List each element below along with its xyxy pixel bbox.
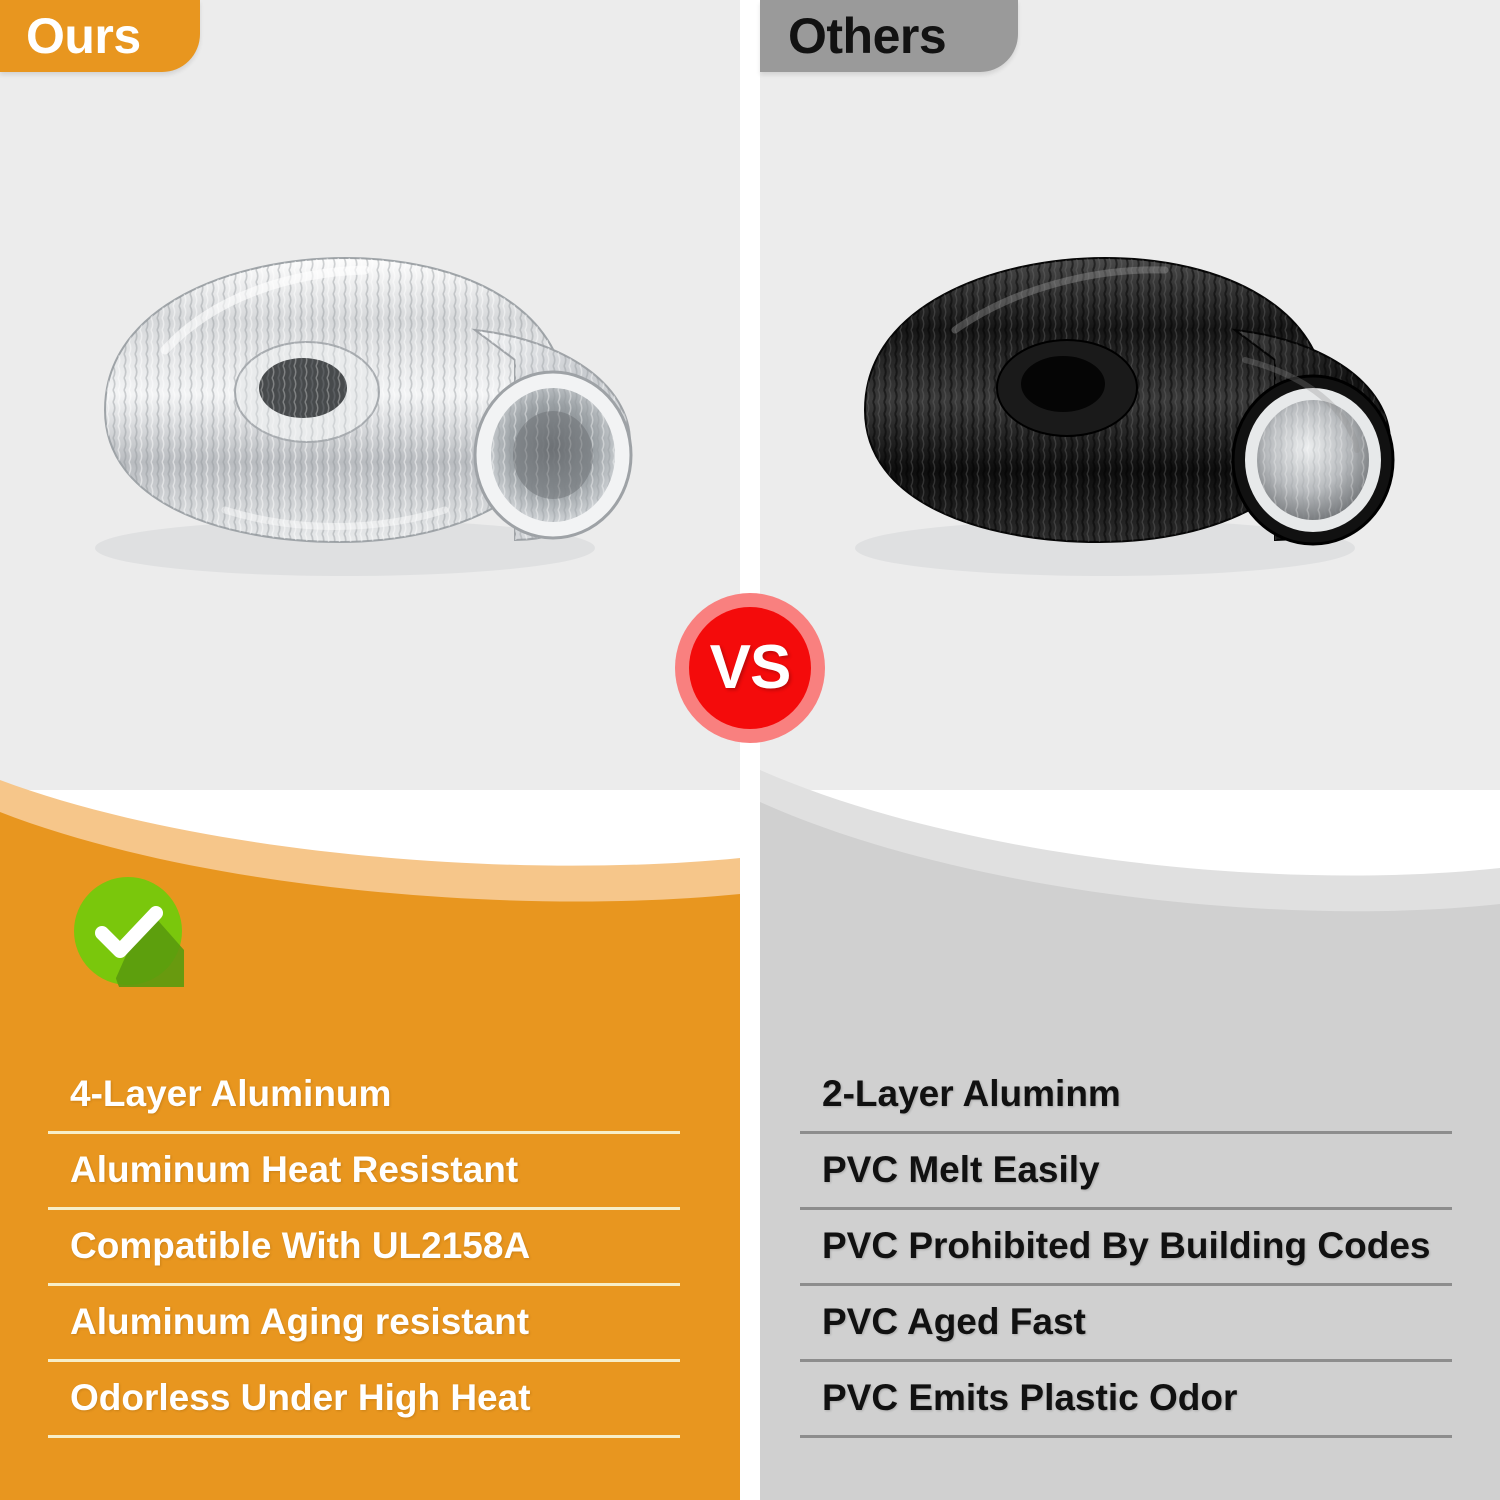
feature-row: PVC Aged Fast	[800, 1286, 1452, 1362]
feature-row: PVC Prohibited By Building Codes	[800, 1210, 1452, 1286]
feature-label: 4-Layer Aluminum	[48, 1075, 391, 1114]
ours-header-label: Ours	[26, 11, 141, 61]
feature-row: PVC Melt Easily	[800, 1134, 1452, 1210]
feature-row: 4-Layer Aluminum	[48, 1058, 680, 1134]
feature-label: PVC Melt Easily	[800, 1151, 1100, 1190]
feature-label: PVC Aged Fast	[800, 1303, 1086, 1342]
ours-header-ribbon: Ours	[0, 0, 200, 72]
feature-row: Aluminum Aging resistant	[48, 1286, 680, 1362]
pvc-flexible-duct-icon	[805, 210, 1455, 590]
ours-product-photo	[0, 0, 740, 790]
comparison-infographic: 4-Layer Aluminum Aluminum Heat Resistant…	[0, 0, 1500, 1500]
ours-feature-list: 4-Layer Aluminum Aluminum Heat Resistant…	[48, 1058, 680, 1438]
feature-label: PVC Emits Plastic Odor	[800, 1379, 1237, 1418]
aluminum-flexible-duct-icon	[45, 210, 695, 590]
others-feature-list: 2-Layer Aluminm PVC Melt Easily PVC Proh…	[800, 1058, 1452, 1438]
versus-badge-inner: VS	[689, 607, 811, 729]
feature-label: Compatible With UL2158A	[48, 1227, 530, 1266]
others-header-ribbon: Others	[760, 0, 1018, 72]
feature-label: Odorless Under High Heat	[48, 1379, 531, 1418]
ours-panel-content: 4-Layer Aluminum Aluminum Heat Resistant…	[0, 740, 740, 1500]
others-panel-content: 2-Layer Aluminm PVC Melt Easily PVC Proh…	[760, 740, 1500, 1500]
versus-label: VS	[710, 637, 791, 699]
feature-label: Aluminum Aging resistant	[48, 1303, 529, 1342]
ours-feature-panel: 4-Layer Aluminum Aluminum Heat Resistant…	[0, 740, 740, 1500]
feature-label: Aluminum Heat Resistant	[48, 1151, 518, 1190]
versus-badge: VS	[675, 593, 825, 743]
center-divider	[740, 0, 760, 1500]
feature-row: Odorless Under High Heat	[48, 1362, 680, 1438]
feature-row: PVC Emits Plastic Odor	[800, 1362, 1452, 1438]
feature-row: 2-Layer Aluminm	[800, 1058, 1452, 1134]
others-product-photo	[760, 0, 1500, 790]
feature-row: Aluminum Heat Resistant	[48, 1134, 680, 1210]
feature-label: PVC Prohibited By Building Codes	[800, 1227, 1430, 1266]
green-check-circle-icon	[72, 875, 184, 987]
others-header-label: Others	[788, 11, 946, 61]
feature-row: Compatible With UL2158A	[48, 1210, 680, 1286]
feature-label: 2-Layer Aluminm	[800, 1075, 1121, 1114]
others-feature-panel: 2-Layer Aluminm PVC Melt Easily PVC Proh…	[760, 740, 1500, 1500]
